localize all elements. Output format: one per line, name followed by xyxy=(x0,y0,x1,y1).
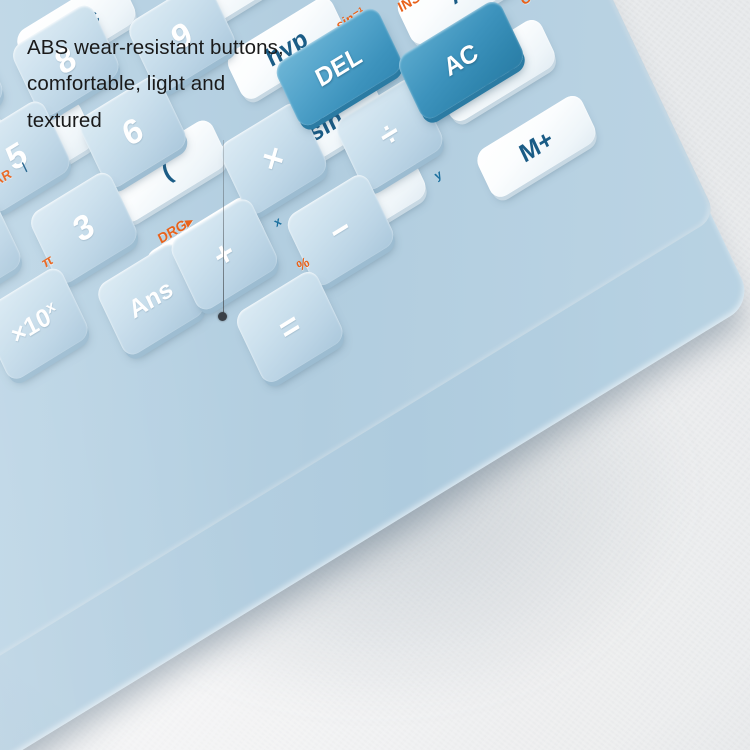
annotation-line-3: textured xyxy=(27,103,457,139)
annotation-line-1: ABS wear-resistant buttons, xyxy=(27,30,457,66)
key-comma-alpha: y xyxy=(432,167,444,183)
product-photo-canvas: ALPHA x! x⁻¹ d/c ab/c nPr nCr (−) A √ xyxy=(0,0,750,750)
key-mplus[interactable]: M+ xyxy=(473,91,600,202)
key-exp[interactable]: ×10x xyxy=(0,264,92,384)
annotation-leader-line xyxy=(223,140,224,318)
key-ac-secondary: OFF xyxy=(518,0,549,8)
annotation-line-2: comfortable, light and xyxy=(27,66,457,102)
annotation-leader-dot xyxy=(218,312,227,321)
key-equals[interactable]: = xyxy=(233,267,347,387)
key-paren-close-alpha: x xyxy=(272,214,284,230)
annotation-text: ABS wear-resistant buttons, comfortable,… xyxy=(27,30,457,139)
